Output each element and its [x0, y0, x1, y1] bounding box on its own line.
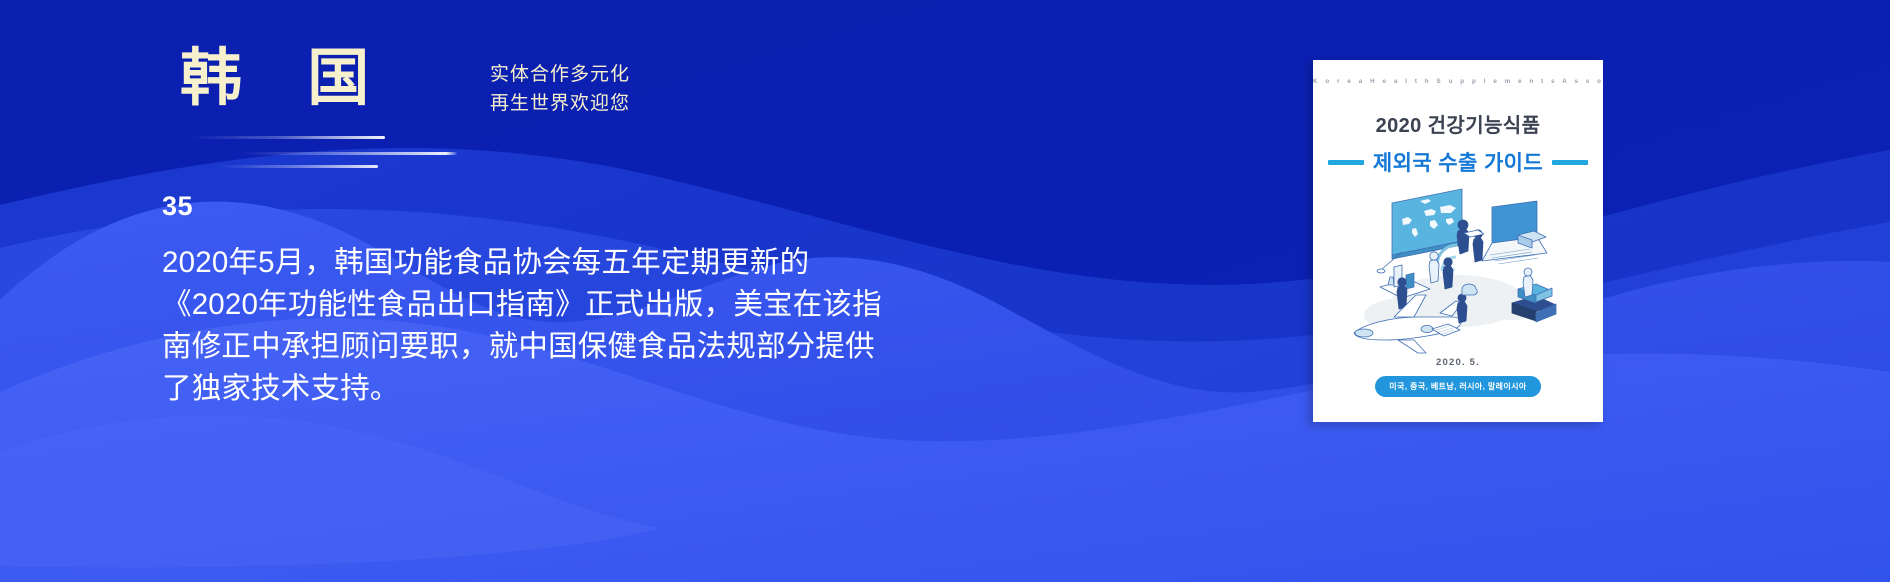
- decoration-line-2: [242, 152, 457, 155]
- booklet-cover-image: K o r e a H e a l t h S u p p l e m e n …: [1313, 60, 1603, 422]
- booklet-countries-badge: 미국, 중국, 베트남, 러시아, 말레이시아: [1375, 376, 1540, 397]
- person-near-chart: [1397, 278, 1407, 309]
- booklet-title-line-1: 2020 건강기능식품: [1313, 109, 1603, 138]
- booklet-date: 2020. 5.: [1313, 357, 1603, 368]
- page-title: 韩 国: [180, 46, 393, 111]
- slogan: 实体合作多元化 再生世界欢迎您: [490, 60, 630, 119]
- slogan-line-2: 再生世界欢迎您: [490, 89, 630, 118]
- booklet-rule-left: [1328, 160, 1364, 165]
- body-line: 《2020年功能性食品出口指南》正式出版，美宝在该指: [162, 284, 982, 326]
- slide-canvas: 韩 国 实体合作多元化 再生世界欢迎您 35 2020年5月，韩国功能食品协会每…: [0, 0, 1890, 582]
- decoration-line-1: [190, 136, 385, 139]
- body-line: 2020年5月，韩国功能食品协会每五年定期更新的: [162, 242, 982, 284]
- decoration-line-3: [218, 165, 378, 168]
- content-block: 35 2020年5月，韩国功能食品协会每五年定期更新的 《2020年功能性食品出…: [162, 193, 982, 410]
- body-line: 南修正中承担顾问要职，就中国保健食品法规部分提供: [162, 326, 982, 368]
- title-block: 韩 国: [180, 46, 393, 111]
- booklet-title-line-2: 제외국 수출 가이드: [1373, 147, 1543, 177]
- booklet-rule-right: [1552, 160, 1588, 165]
- title-decoration: [180, 132, 500, 184]
- booklet-title-line-2-row: 제외국 수출 가이드: [1313, 147, 1603, 177]
- slogan-line-1: 实体合作多元化: [490, 60, 630, 89]
- person-at-screen: [1457, 220, 1469, 254]
- person-on-containers: [1523, 268, 1533, 297]
- laptop: [1482, 201, 1547, 264]
- booklet-association-line: K o r e a H e a l t h S u p p l e m e n …: [1313, 78, 1603, 85]
- isometric-export-illustration: [1332, 183, 1584, 355]
- body-line: 了独家技术支持。: [162, 368, 982, 410]
- item-number: 35: [162, 193, 982, 220]
